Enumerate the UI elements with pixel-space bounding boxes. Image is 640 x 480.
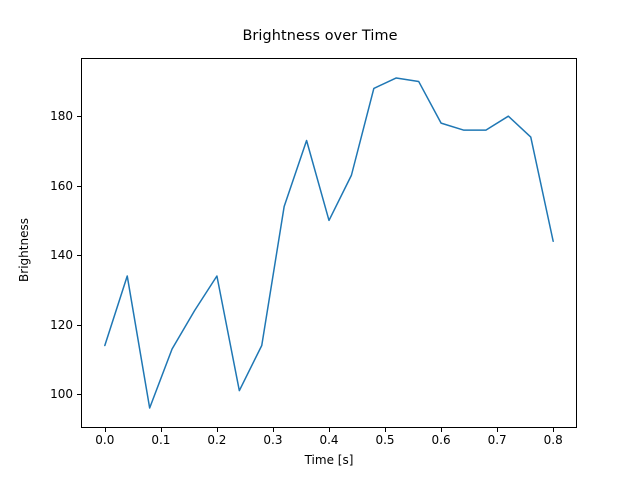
x-tick-label: 0.7 [488,433,507,447]
y-tick-label: 100 [50,387,73,401]
y-tick-mark [77,325,81,326]
x-tick-label: 0.4 [319,433,338,447]
x-tick-label: 0.2 [207,433,226,447]
x-tick-label: 0.6 [432,433,451,447]
brightness-data-line [105,78,553,408]
x-tick-mark [105,428,106,432]
y-axis-tick-labels: 100120140160180 [0,0,73,480]
x-tick-mark [385,428,386,432]
y-tick-mark [77,394,81,395]
x-tick-mark [329,428,330,432]
y-tick-mark [77,255,81,256]
y-tick-label: 180 [50,109,73,123]
line-chart-plot [81,58,577,428]
x-tick-label: 0.1 [151,433,170,447]
x-tick-mark [273,428,274,432]
y-tick-mark [77,116,81,117]
matplotlib-figure: Brightness over Time 100120140160180 0.0… [0,0,640,480]
y-tick-label: 160 [50,179,73,193]
x-tick-label: 0.0 [95,433,114,447]
y-tick-label: 140 [50,248,73,262]
y-axis-label: Brightness [17,150,31,350]
x-tick-label: 0.5 [375,433,394,447]
chart-title: Brightness over Time [0,28,640,44]
x-tick-mark [161,428,162,432]
x-tick-mark [217,428,218,432]
x-tick-mark [497,428,498,432]
x-tick-label: 0.3 [263,433,282,447]
x-tick-mark [553,428,554,432]
x-tick-label: 0.8 [544,433,563,447]
x-axis-label: Time [s] [81,453,577,467]
x-tick-mark [441,428,442,432]
y-tick-label: 120 [50,318,73,332]
y-tick-mark [77,186,81,187]
